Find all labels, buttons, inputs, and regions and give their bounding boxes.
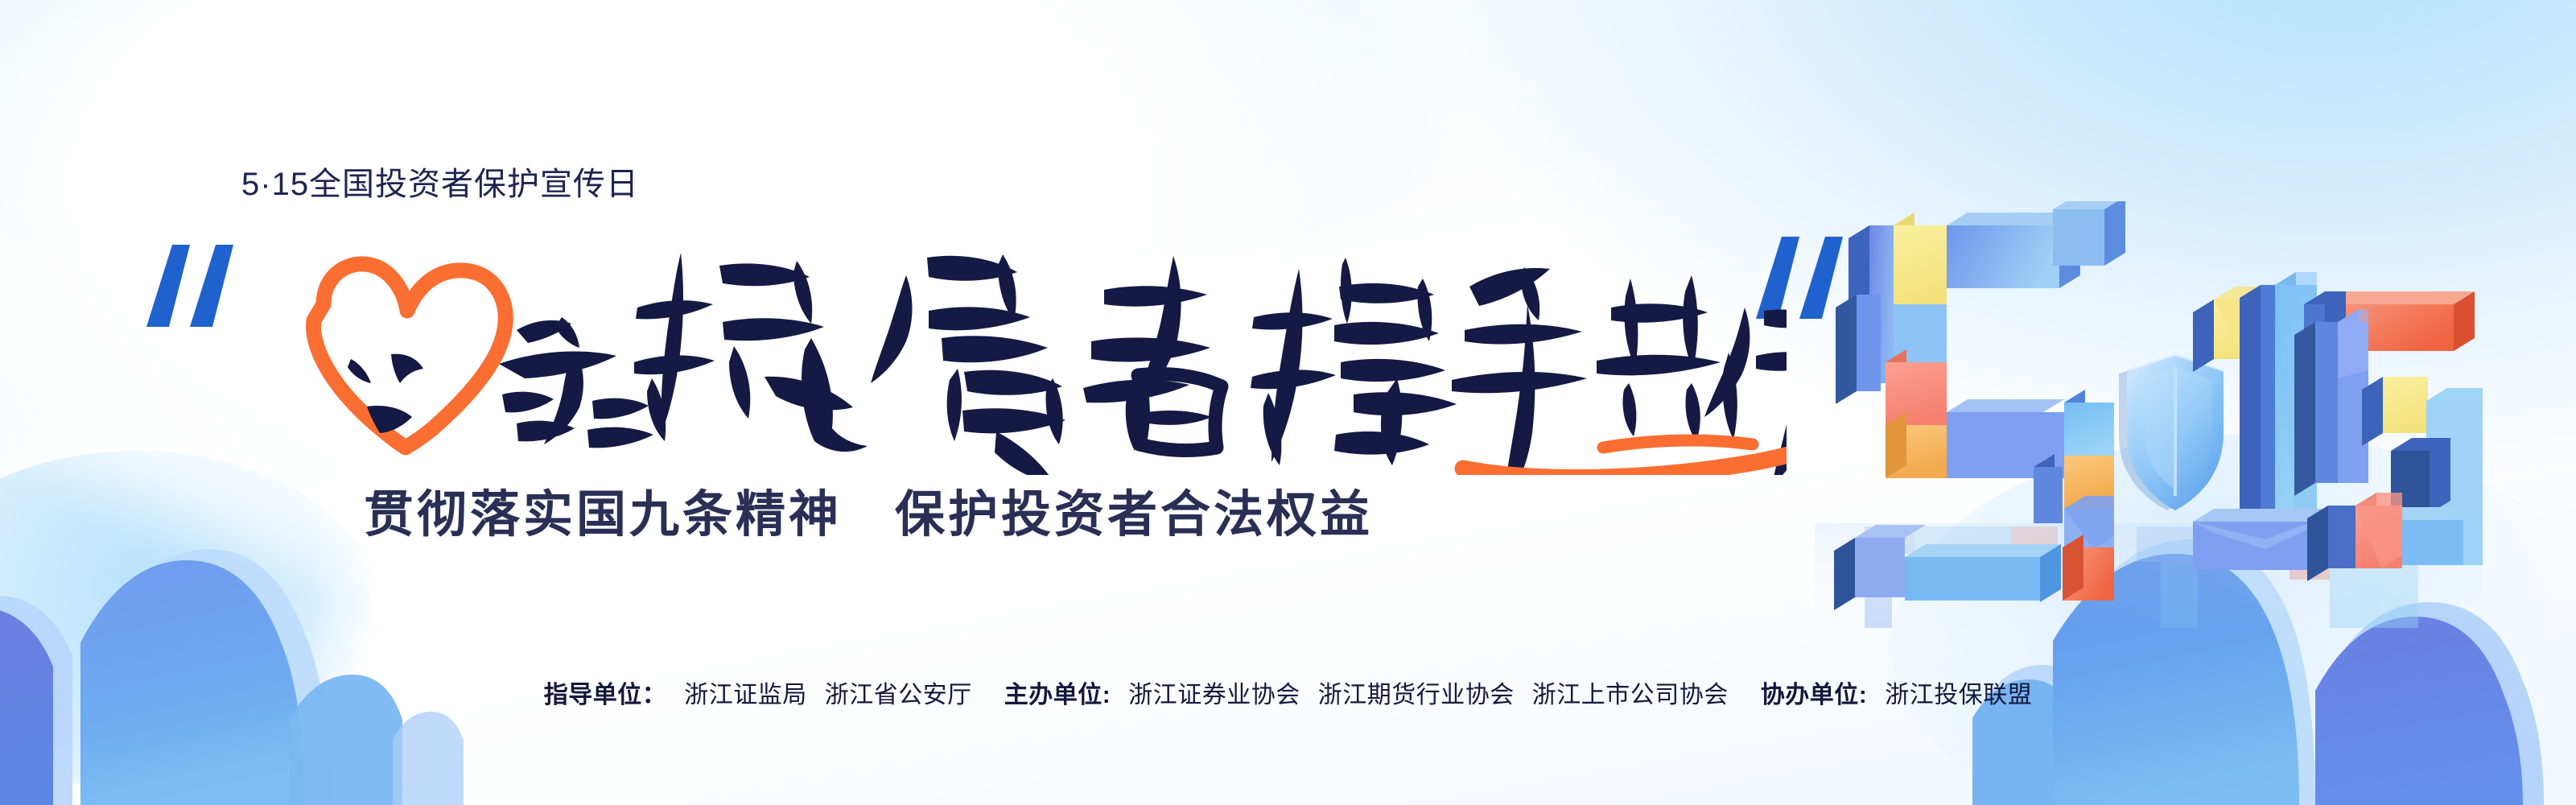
investor-protection-banner: 5·15全国投资者保护宣传日 “ ” 心系投资者 携手共行动 (0, 0, 2576, 805)
quote-open-icon: “ (137, 240, 241, 336)
numeral-515-3d-artwork: 5·15 (1815, 201, 2483, 628)
credit-item: 浙江证券业协会 (1128, 675, 1300, 710)
credit-item: 浙江投保联盟 (1885, 675, 2032, 710)
orange-underline-accent (1603, 440, 1753, 448)
glyph-zhe (1083, 256, 1222, 451)
credit-group-host: 主办单位: 浙江证券业协会 浙江期货行业协会 浙江上市公司协会 (1004, 675, 1729, 710)
credit-label-guidance: 指导单位： (544, 675, 667, 710)
eyebrow-text: 5·15全国投资者保护宣传日 (241, 158, 639, 204)
glyph-shou (1452, 267, 1587, 475)
glyph-xie (1251, 258, 1457, 465)
slogan-calligraphy: 心系投资者 携手共行动 (233, 233, 1787, 475)
credit-label-coorganizer: 协办单位: (1761, 675, 1868, 710)
subtitle-text: 贯彻落实国九条精神 保护投资者合法权益 (364, 473, 1373, 546)
numeral-5-right (2294, 291, 2483, 581)
glyph-xi (499, 317, 653, 448)
slogan-row: “ ” 心系投资者 携手共行动 (137, 233, 1843, 475)
numeral-5-left (1834, 201, 2125, 610)
credit-group-guidance: 指导单位： 浙江证监局 浙江省公安厅 (544, 675, 972, 710)
credit-label-host: 主办单位: (1004, 675, 1111, 710)
heart-xin-glyph (314, 264, 506, 448)
mountain-cloud-left (0, 539, 563, 805)
cloud-blob-top-left (0, 0, 467, 266)
glyph-zi (871, 254, 1065, 475)
credit-item: 浙江省公安厅 (825, 675, 972, 710)
credit-group-coorganizer: 协办单位: 浙江投保联盟 (1761, 675, 2033, 710)
credit-item: 浙江上市公司协会 (1532, 675, 1729, 710)
glyph-gong (1597, 275, 1721, 441)
credits-bar: 指导单位： 浙江证监局 浙江省公安厅 主办单位: 浙江证券业协会 浙江期货行业协… (0, 675, 2576, 710)
credit-item: 浙江证监局 (684, 675, 807, 710)
credit-item: 浙江期货行业协会 (1318, 675, 1515, 710)
glyph-tou (634, 253, 868, 452)
shield-icon (2119, 354, 2224, 510)
cloud-blob-top-center (789, 0, 1513, 258)
